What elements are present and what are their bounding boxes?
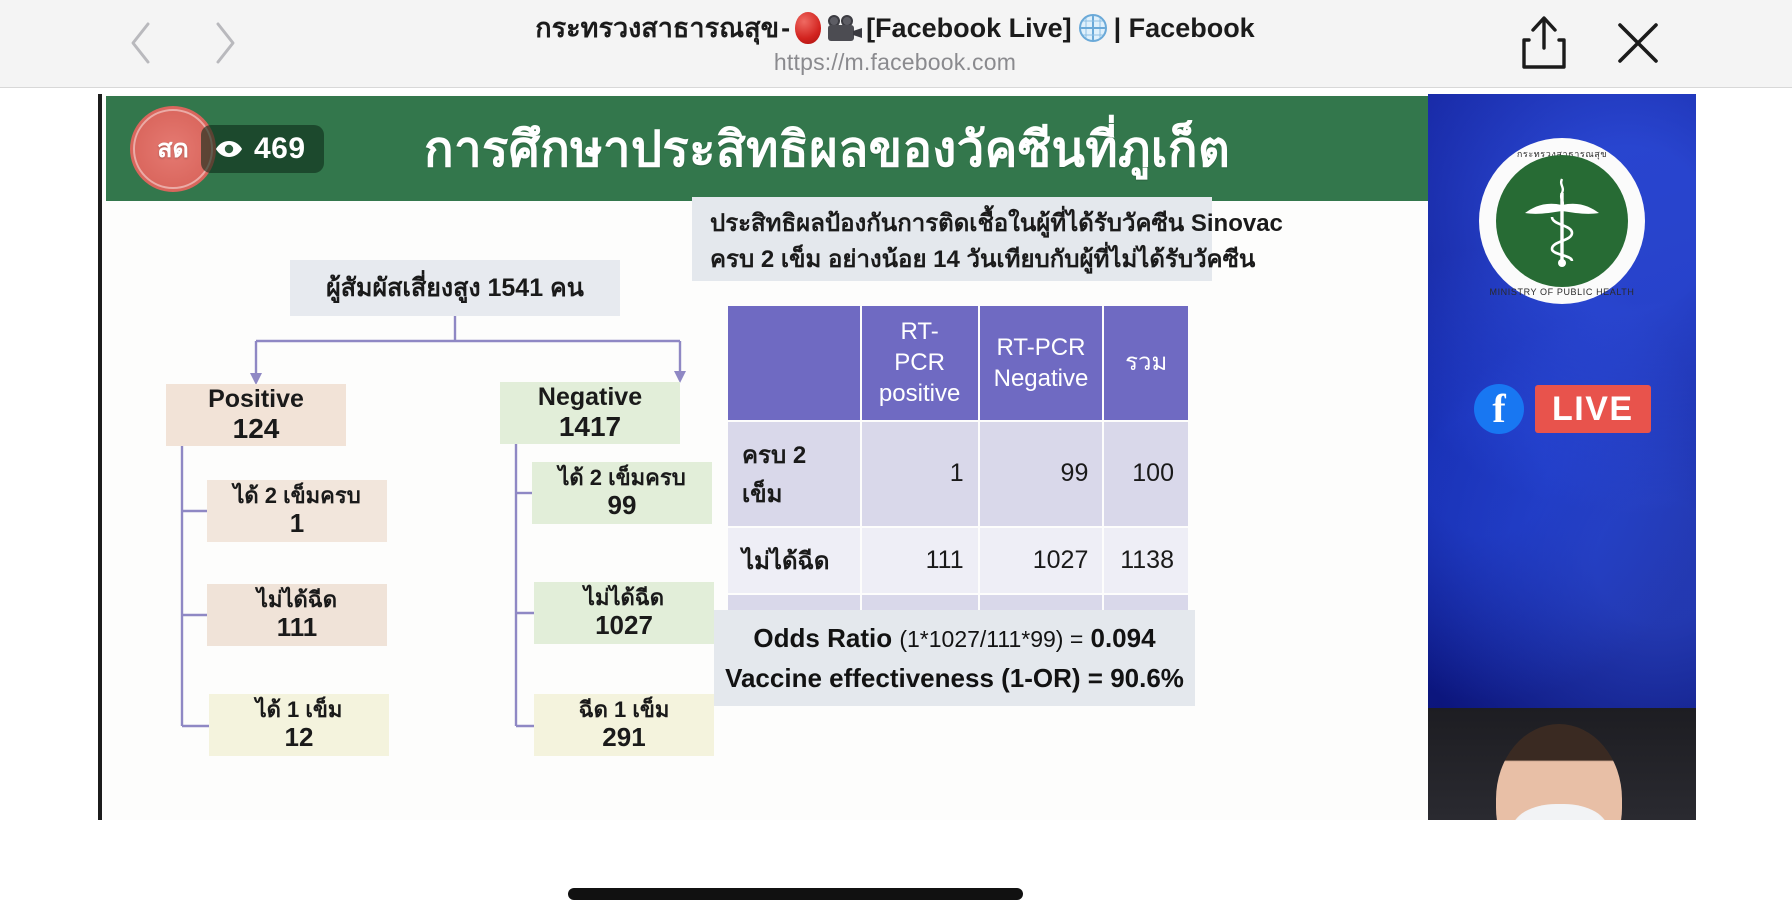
table-header-rtpcr-positive: RT-PCR positive	[862, 306, 978, 420]
flow-node-label: ได้ 2 เข็มครบ	[233, 484, 360, 509]
flow-node-label: ได้ 1 เข็ม	[256, 698, 343, 723]
flow-node-negative-child-2: ไม่ได้ฉีด 1027	[534, 582, 714, 644]
close-button[interactable]	[1607, 12, 1669, 74]
flow-node-negative-child-1: ได้ 2 เข็มครบ 99	[532, 462, 712, 524]
flow-node-value: 12	[285, 723, 314, 752]
flow-node-positive: Positive 124	[166, 384, 346, 446]
eye-icon	[215, 140, 243, 158]
table-cell: 100	[1104, 422, 1188, 526]
table-row-label: ไม่ได้ฉีด	[728, 528, 860, 593]
live-badge-label: สด	[157, 129, 189, 169]
video-slide-background: กระทรวงสาธารณสุข MINISTRY OF PUBLIC HEAL…	[1428, 94, 1696, 708]
table-header-row: RT-PCR positive RT-PCR Negative รวม	[728, 306, 1188, 420]
header-line-1: RT-PCR	[876, 316, 964, 378]
flow-node-negative-label: Negative	[538, 383, 642, 411]
flow-node-negative: Negative 1417	[500, 382, 680, 444]
speaker-camera-feed	[1428, 708, 1696, 820]
logo-bottom-text: MINISTRY OF PUBLIC HEALTH	[1479, 287, 1645, 297]
table-header-rtpcr-negative: RT-PCR Negative	[980, 306, 1103, 420]
header-line-1: RT-PCR	[994, 332, 1089, 363]
odds-ratio-line: Odds Ratio (1*1027/111*99) = 0.094	[753, 623, 1155, 654]
flow-node-positive-label: Positive	[208, 385, 304, 413]
contingency-table: RT-PCR positive RT-PCR Negative รวม ครบ …	[726, 304, 1190, 662]
flow-node-value: 1	[290, 509, 304, 538]
browser-overlay-header: กระทรวงสาธารณสุข - [Facebook Live] | Fac…	[0, 0, 1792, 88]
header-line-2: Negative	[994, 363, 1089, 394]
table-row: ไม่ได้ฉีด 111 1027 1138	[728, 528, 1188, 593]
facebook-icon: f	[1474, 384, 1524, 434]
table-header-total: รวม	[1104, 306, 1188, 420]
slide-title: การศึกษาประสิทธิผลของวัคซีนที่ภูเก็ต	[424, 110, 1230, 188]
flow-node-root-label: ผู้สัมผัสเสี่ยงสูง 1541 คน	[326, 274, 584, 302]
logo-emblem-icon	[1496, 155, 1628, 287]
viewer-count-pill: 469	[201, 125, 324, 173]
flow-node-negative-value: 1417	[559, 411, 621, 442]
flow-node-label: ไม่ได้ฉีด	[257, 588, 337, 613]
page-title-thai: กระทรวงสาธารณสุข	[535, 8, 779, 48]
header-line-2: positive	[876, 378, 964, 409]
flow-node-positive-child-2: ไม่ได้ฉีด 111	[207, 584, 387, 646]
slide-header-bar: สด 469 การศึกษาประสิทธิผลของวัคซีนที่ภูเ…	[106, 96, 1428, 201]
share-upload-icon	[1513, 12, 1575, 74]
vaccine-effectiveness-line: Vaccine effectiveness (1-OR) = 90.6%	[725, 663, 1184, 694]
result-box: Odds Ratio (1*1027/111*99) = 0.094 Vacci…	[714, 610, 1195, 706]
flow-node-label: ฉีด 1 เข็ม	[579, 698, 670, 723]
share-button[interactable]	[1513, 12, 1575, 74]
flow-node-positive-child-1: ได้ 2 เข็มครบ 1	[207, 480, 387, 542]
ministry-of-public-health-logo: กระทรวงสาธารณสุข MINISTRY OF PUBLIC HEAL…	[1479, 138, 1645, 304]
flow-node-positive-value: 124	[233, 413, 280, 444]
table-cell: 99	[980, 422, 1103, 526]
page-title-bracket: [Facebook Live]	[866, 8, 1072, 48]
live-video-stage: สด 469 การศึกษาประสิทธิผลของวัคซีนที่ภูเ…	[0, 88, 1792, 828]
back-button[interactable]	[112, 14, 170, 72]
red-circle-emoji-icon	[795, 12, 821, 44]
live-label: LIVE	[1535, 385, 1651, 433]
video-panel: กระทรวงสาธารณสุข MINISTRY OF PUBLIC HEAL…	[1428, 94, 1696, 820]
page-title-block: กระทรวงสาธารณสุข - [Facebook Live] | Fac…	[300, 8, 1490, 76]
flow-node-value: 291	[602, 723, 645, 752]
flow-node-root: ผู้สัมผัสเสี่ยงสูง 1541 คน	[290, 260, 620, 316]
page-title: กระทรวงสาธารณสุข - [Facebook Live] | Fac…	[300, 8, 1490, 48]
flow-node-negative-child-3: ฉีด 1 เข็ม 291	[534, 694, 714, 756]
page-title-suffix: | Facebook	[1114, 8, 1255, 48]
description-box: ประสิทธิผลป้องกันการติดเชื้อในผู้ที่ได้ร…	[692, 197, 1212, 281]
table-cell: 1027	[980, 528, 1103, 593]
close-x-icon	[1607, 12, 1669, 74]
slide-content: สด 469 การศึกษาประสิทธิผลของวัคซีนที่ภูเ…	[98, 94, 1428, 820]
globe-emoji-icon	[1079, 14, 1107, 42]
flow-node-positive-child-3: ได้ 1 เข็ม 12	[209, 694, 389, 756]
caduceus-icon	[1519, 173, 1605, 269]
table-row-label: ครบ 2 เข็ม	[728, 422, 860, 526]
table-corner-cell	[728, 306, 860, 420]
odds-ratio-value: 0.094	[1091, 623, 1156, 653]
table-cell: 111	[862, 528, 978, 593]
flow-node-label: ไม่ได้ฉีด	[584, 586, 664, 611]
page-url: https://m.facebook.com	[300, 49, 1490, 76]
flow-node-label: ได้ 2 เข็มครบ	[558, 466, 685, 491]
page-title-dash: -	[781, 8, 790, 48]
odds-ratio-label: Odds Ratio	[753, 623, 892, 653]
table-row: ครบ 2 เข็ม 1 99 100	[728, 422, 1188, 526]
odds-ratio-formula: (1*1027/111*99) =	[899, 626, 1083, 652]
horizontal-scrollbar-thumb[interactable]	[568, 888, 1023, 900]
flow-node-value: 99	[608, 491, 637, 520]
flow-node-value: 1027	[595, 611, 653, 640]
viewer-count: 469	[254, 132, 306, 166]
description-line-1: ประสิทธิผลป้องกันการติดเชื้อในผู้ที่ได้ร…	[710, 206, 1198, 242]
header-line-1: รวม	[1118, 347, 1174, 378]
flow-node-value: 111	[277, 613, 318, 642]
table-cell: 1138	[1104, 528, 1188, 593]
table-cell: 1	[862, 422, 978, 526]
movie-camera-emoji-icon	[828, 15, 862, 41]
forward-button[interactable]	[196, 14, 254, 72]
chevron-left-icon	[128, 21, 154, 65]
chevron-right-icon	[212, 21, 238, 65]
description-line-2: ครบ 2 เข็ม อย่างน้อย 14 วันเทียบกับผู้ที…	[710, 242, 1198, 278]
facebook-live-badge: f LIVE	[1474, 384, 1651, 434]
